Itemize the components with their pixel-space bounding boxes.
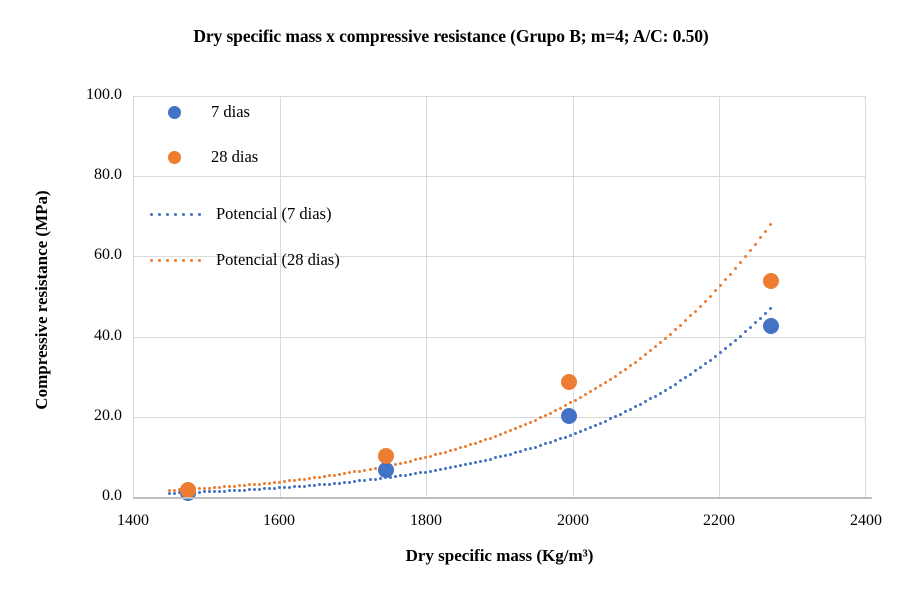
trendline-dot	[288, 479, 291, 482]
trendline-dot	[614, 375, 617, 378]
trendline-dot	[494, 456, 497, 459]
trendline-dot	[489, 458, 492, 461]
legend-item-28-dias[interactable]: 28 dias	[160, 145, 258, 169]
trendline-dot	[559, 407, 562, 410]
trendline-dot	[749, 326, 752, 329]
trendline-dot	[534, 419, 537, 422]
trendline-dot	[459, 464, 462, 467]
x-tick-label: 2200	[679, 512, 759, 530]
data-point-marker[interactable]	[561, 374, 577, 390]
trendline-dot	[634, 361, 637, 364]
trendline-dot	[434, 453, 437, 456]
trendline-dot	[323, 475, 326, 478]
gridline-horizontal	[133, 417, 866, 418]
trendline-dot	[374, 467, 377, 470]
trendline-dot	[318, 476, 321, 479]
trendline-dot	[499, 455, 502, 458]
trendline-dot	[273, 487, 276, 490]
trendline-dot	[664, 337, 667, 340]
trendline-dot	[549, 441, 552, 444]
trendline-dot	[699, 366, 702, 369]
trendline-dot	[604, 420, 607, 423]
trendline-dot	[609, 417, 612, 420]
trendline-dot	[394, 475, 397, 478]
trendline-dot	[379, 477, 382, 480]
trendline-dot	[358, 470, 361, 473]
legend-label: 7 dias	[211, 102, 250, 122]
x-tick-label: 1400	[93, 512, 173, 530]
legend-marker-circle-icon	[168, 151, 181, 164]
trendline-dot	[564, 404, 567, 407]
trendline-dot	[263, 482, 266, 485]
trendline-dot	[684, 376, 687, 379]
trendline-dot	[248, 488, 251, 491]
gridline-vertical	[719, 96, 720, 497]
trendline-dot	[218, 486, 221, 489]
trendline-dot	[714, 289, 717, 292]
trendline-dot	[759, 236, 762, 239]
trendline-dot	[369, 478, 372, 481]
trendline-dot	[424, 456, 427, 459]
trendline-dot	[494, 435, 497, 438]
trendline-dot	[469, 443, 472, 446]
gridline-horizontal	[133, 176, 866, 177]
trendline-dot	[258, 488, 261, 491]
trendline-dot	[338, 473, 341, 476]
trendline-dot	[569, 434, 572, 437]
trendline-dot	[514, 427, 517, 430]
trendline-dot	[509, 429, 512, 432]
trendline-dot	[694, 310, 697, 313]
trendline-dot	[203, 490, 206, 493]
trendline-dot	[243, 489, 246, 492]
trendline-dot	[263, 487, 266, 490]
gridline-vertical	[133, 96, 134, 497]
trendline-dot	[273, 481, 276, 484]
trendline-dot	[459, 446, 462, 449]
trendline-dot	[724, 278, 727, 281]
trendline-dot	[293, 479, 296, 482]
trendline-dot	[223, 490, 226, 493]
x-axis-line	[133, 497, 872, 499]
trendline-dot	[444, 467, 447, 470]
trendline-dot	[228, 485, 231, 488]
trendline-dot	[293, 485, 296, 488]
trendline-dot	[343, 481, 346, 484]
trendline-dot	[564, 436, 567, 439]
trendline-dot	[624, 368, 627, 371]
legend-dotted-line-icon	[150, 213, 206, 216]
trendline-dot	[704, 300, 707, 303]
trendline-dot	[764, 312, 767, 315]
trendline-dot	[579, 396, 582, 399]
trendline-dot	[549, 412, 552, 415]
trendline-dot	[669, 333, 672, 336]
trendline-dot	[228, 489, 231, 492]
trendline-dot	[283, 480, 286, 483]
trendline-dot	[414, 458, 417, 461]
trendline-dot	[454, 448, 457, 451]
trendline-dot	[769, 223, 772, 226]
trendline-dot	[649, 397, 652, 400]
trendline-dot	[198, 491, 201, 494]
trendline-dot	[404, 474, 407, 477]
trendline-dot	[333, 482, 336, 485]
trendline-dot	[439, 468, 442, 471]
trendline-dot	[544, 414, 547, 417]
trendline-dot	[714, 355, 717, 358]
trendline-dot	[474, 442, 477, 445]
trendline-dot	[348, 481, 351, 484]
trendline-dot	[659, 392, 662, 395]
trendline-dot	[644, 400, 647, 403]
trendline-dot	[399, 462, 402, 465]
trendline-dot	[283, 486, 286, 489]
trendline-dot	[609, 378, 612, 381]
trendline-dot	[764, 230, 767, 233]
trendline-dot	[529, 421, 532, 424]
trendline-dot	[569, 401, 572, 404]
trendline-dot	[419, 471, 422, 474]
trendline-dot	[208, 487, 211, 490]
trendline-dot	[624, 410, 627, 413]
trendline-dot	[469, 462, 472, 465]
x-tick-label: 2000	[533, 512, 613, 530]
trendline-dot	[409, 473, 412, 476]
trendline-dot	[649, 349, 652, 352]
y-tick-label: 60.0	[50, 246, 122, 264]
legend-label: 28 dias	[211, 147, 258, 167]
trendline-dot	[719, 284, 722, 287]
trendline-dot	[629, 364, 632, 367]
trendline-dot	[674, 383, 677, 386]
trendline-dot	[409, 460, 412, 463]
trendline-dot	[213, 490, 216, 493]
trendline-dot	[348, 471, 351, 474]
trendline-dot	[584, 428, 587, 431]
legend-dotted-line-icon	[150, 259, 206, 262]
trendline-dot	[238, 484, 241, 487]
trendline-dot	[514, 451, 517, 454]
trendline-dot	[233, 485, 236, 488]
trendline-dot	[353, 480, 356, 483]
trendline-dot	[669, 386, 672, 389]
trendline-dot	[429, 470, 432, 473]
data-point-marker[interactable]	[763, 273, 779, 289]
trendline-dot	[664, 389, 667, 392]
trendline-dot	[449, 449, 452, 452]
trendline-dot	[394, 463, 397, 466]
trendline-dot	[534, 446, 537, 449]
trendline-dot	[559, 437, 562, 440]
y-axis-title: Compressive resistance (MPa)	[32, 90, 52, 510]
data-point-marker[interactable]	[180, 482, 196, 498]
trendline-dot	[303, 485, 306, 488]
trendline-dot	[704, 362, 707, 365]
data-point-marker[interactable]	[763, 318, 779, 334]
trendline-dot	[639, 403, 642, 406]
trendline-dot	[529, 447, 532, 450]
trendline-dot	[444, 451, 447, 454]
trendline-dot	[629, 408, 632, 411]
trendline-dot	[724, 347, 727, 350]
trendline-dot	[674, 328, 677, 331]
trendline-dot	[504, 431, 507, 434]
trendline-dot	[479, 460, 482, 463]
trendline-dot	[509, 453, 512, 456]
trendline-dot	[584, 393, 587, 396]
trendline-dot	[414, 472, 417, 475]
trendline-dot	[709, 295, 712, 298]
trendline-dot	[333, 474, 336, 477]
trendline-dot	[544, 442, 547, 445]
chart-title: Dry specific mass x compressive resistan…	[0, 26, 902, 47]
trendline-dot	[589, 390, 592, 393]
data-point-marker[interactable]	[561, 408, 577, 424]
trendline-dot	[268, 487, 271, 490]
y-tick-label: 40.0	[50, 327, 122, 345]
trendline-dot	[594, 424, 597, 427]
y-tick-label: 100.0	[50, 86, 122, 104]
legend-label: Potencial (28 dias)	[216, 250, 340, 270]
trendline-dot	[594, 387, 597, 390]
trendline-dot	[759, 317, 762, 320]
trendline-dot	[524, 423, 527, 426]
trendline-dot	[203, 487, 206, 490]
trendline-dot	[253, 483, 256, 486]
trendline-dot	[343, 472, 346, 475]
legend-item-potencial-7-dias[interactable]: Potencial (7 dias)	[150, 202, 331, 226]
trendline-dot	[298, 485, 301, 488]
trendline-dot	[679, 379, 682, 382]
trendline-dot	[218, 490, 221, 493]
trendline-dot	[484, 438, 487, 441]
trendline-dot	[328, 474, 331, 477]
trendline-dot	[404, 461, 407, 464]
trendline-dot	[519, 425, 522, 428]
trendline-dot	[744, 330, 747, 333]
trendline-dot	[303, 478, 306, 481]
trendline-dot	[749, 249, 752, 252]
trendline-dot	[684, 319, 687, 322]
trendline-dot	[474, 461, 477, 464]
trendline-dot	[168, 492, 171, 495]
trendline-dot	[689, 373, 692, 376]
trendline-dot	[479, 440, 482, 443]
trendline-dot	[504, 454, 507, 457]
trendline-dot	[353, 470, 356, 473]
trendline-dot	[308, 484, 311, 487]
trendline-dot	[313, 476, 316, 479]
trendline-dot	[439, 452, 442, 455]
data-point-marker[interactable]	[378, 448, 394, 464]
trendline-dot	[173, 489, 176, 492]
trendline-dot	[729, 273, 732, 276]
gridline-vertical	[426, 96, 427, 497]
trendline-dot	[173, 492, 176, 495]
trendline-dot	[328, 483, 331, 486]
trendline-dot	[318, 483, 321, 486]
gridline-vertical	[865, 96, 866, 497]
trendline-dot	[248, 483, 251, 486]
trendline-dot	[554, 409, 557, 412]
trendline-dot	[689, 314, 692, 317]
legend-item-7-dias[interactable]: 7 dias	[160, 100, 250, 124]
trendline-dot	[258, 483, 261, 486]
trendline-dot	[233, 489, 236, 492]
trendline-dot	[574, 399, 577, 402]
data-point-marker[interactable]	[378, 462, 394, 478]
trendline-dot	[449, 466, 452, 469]
trendline-dot	[434, 469, 437, 472]
trendline-dot	[338, 482, 341, 485]
legend-item-potencial-28-dias[interactable]: Potencial (28 dias)	[150, 248, 340, 272]
trendline-dot	[574, 432, 577, 435]
trendline-dot	[769, 307, 772, 310]
trendline-dot	[754, 243, 757, 246]
trendline-dot	[554, 439, 557, 442]
trendline-dot	[424, 471, 427, 474]
y-tick-label: 0.0	[50, 487, 122, 505]
trendline-dot	[739, 261, 742, 264]
trendline-dot	[709, 359, 712, 362]
trendline-dot	[464, 445, 467, 448]
trendline-dot	[734, 267, 737, 270]
trendline-dot	[579, 430, 582, 433]
chart-container: Dry specific mass x compressive resistan…	[0, 0, 902, 590]
trendline-dot	[168, 489, 171, 492]
trendline-dot	[238, 489, 241, 492]
trendline-dot	[369, 468, 372, 471]
trendline-dot	[619, 413, 622, 416]
trendline-dot	[429, 455, 432, 458]
trendline-dot	[308, 477, 311, 480]
gridline-vertical	[280, 96, 281, 497]
trendline-dot	[694, 369, 697, 372]
trendline-dot	[268, 482, 271, 485]
y-tick-label: 20.0	[50, 407, 122, 425]
trendline-dot	[464, 463, 467, 466]
trendline-dot	[208, 490, 211, 493]
trendline-dot	[313, 484, 316, 487]
trendline-dot	[754, 321, 757, 324]
trendline-dot	[729, 343, 732, 346]
trendline-dot	[198, 487, 201, 490]
trendline-dot	[744, 255, 747, 258]
gridline-horizontal	[133, 337, 866, 338]
gridline-vertical	[573, 96, 574, 497]
trendline-dot	[639, 357, 642, 360]
gridline-horizontal	[133, 96, 866, 97]
trendline-dot	[719, 351, 722, 354]
trendline-dot	[223, 485, 226, 488]
trendline-dot	[599, 422, 602, 425]
trendline-dot	[454, 465, 457, 468]
trendline-dot	[363, 469, 366, 472]
trendline-dot	[619, 371, 622, 374]
legend-marker-circle-icon	[168, 106, 181, 119]
trendline-dot	[399, 474, 402, 477]
x-tick-label: 1800	[386, 512, 466, 530]
trendline-dot	[539, 416, 542, 419]
trendline-dot	[539, 444, 542, 447]
trendline-dot	[519, 450, 522, 453]
x-tick-label: 2400	[826, 512, 902, 530]
trendline-dot	[524, 448, 527, 451]
trendline-dot	[699, 305, 702, 308]
x-tick-label: 1600	[239, 512, 319, 530]
trendline-dot	[734, 339, 737, 342]
trendline-dot	[604, 381, 607, 384]
trendline-dot	[659, 341, 662, 344]
trendline-dot	[298, 478, 301, 481]
trendline-dot	[589, 426, 592, 429]
trendline-dot	[679, 324, 682, 327]
trendline-dot	[644, 353, 647, 356]
legend-label: Potencial (7 dias)	[216, 204, 331, 224]
trendline-dot	[654, 395, 657, 398]
y-tick-label: 80.0	[50, 166, 122, 184]
trendline-dot	[323, 483, 326, 486]
trendline-dot	[739, 335, 742, 338]
trendline-dot	[634, 405, 637, 408]
trendline-dot	[213, 486, 216, 489]
trendline-dot	[363, 479, 366, 482]
trendline-dot	[499, 433, 502, 436]
trendline-dot	[358, 479, 361, 482]
trendline-dot	[288, 486, 291, 489]
x-axis-title: Dry specific mass (Kg/m³)	[133, 546, 866, 566]
trendline-dot	[484, 459, 487, 462]
trendline-dot	[419, 457, 422, 460]
trendline-dot	[374, 478, 377, 481]
trendline-dot	[243, 484, 246, 487]
trendline-dot	[654, 345, 657, 348]
trendline-dot	[489, 437, 492, 440]
trendline-dot	[599, 384, 602, 387]
trendline-dot	[253, 488, 256, 491]
